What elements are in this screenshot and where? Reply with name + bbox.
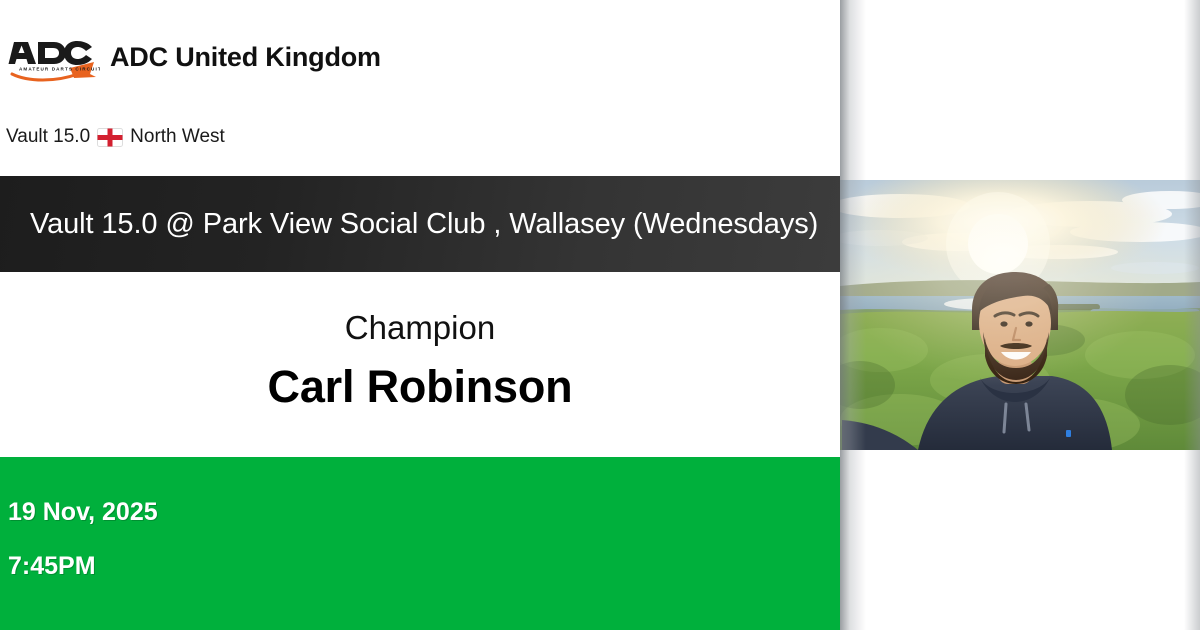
champion-name: Carl Robinson	[0, 362, 840, 412]
svg-text:AMATEUR DARTS CIRCUIT: AMATEUR DARTS CIRCUIT	[19, 67, 100, 72]
adc-logo-icon: AMATEUR DARTS CIRCUIT	[8, 28, 100, 86]
event-details-bar: 19 Nov, 2025 7:45PM Park View Social Clu…	[0, 457, 840, 630]
datetime-column: 19 Nov, 2025 7:45PM	[8, 499, 368, 580]
event-time: 7:45PM	[8, 553, 368, 581]
photo-panel	[840, 0, 1200, 630]
vault-label: Vault 15.0	[6, 126, 90, 148]
champion-section: Champion Carl Robinson	[0, 272, 840, 457]
event-poster: AMATEUR DARTS CIRCUIT ADC United Kingdom…	[0, 0, 1200, 630]
event-titlebar: Vault 15.0 @ Park View Social Club , Wal…	[0, 176, 840, 272]
region-label: North West	[130, 126, 225, 148]
poster-header: AMATEUR DARTS CIRCUIT ADC United Kingdom…	[0, 0, 840, 176]
champion-label: Champion	[0, 310, 840, 346]
vault-region-row: Vault 15.0 North West	[6, 126, 225, 148]
left-content-column: AMATEUR DARTS CIRCUIT ADC United Kingdom…	[0, 0, 840, 630]
champion-photo	[840, 180, 1200, 450]
brand-title: ADC United Kingdom	[110, 42, 381, 73]
england-flag-icon	[97, 128, 123, 147]
event-date: 19 Nov, 2025	[8, 499, 368, 527]
event-title: Vault 15.0 @ Park View Social Club , Wal…	[0, 208, 818, 241]
brand-row: AMATEUR DARTS CIRCUIT ADC United Kingdom	[8, 28, 381, 86]
